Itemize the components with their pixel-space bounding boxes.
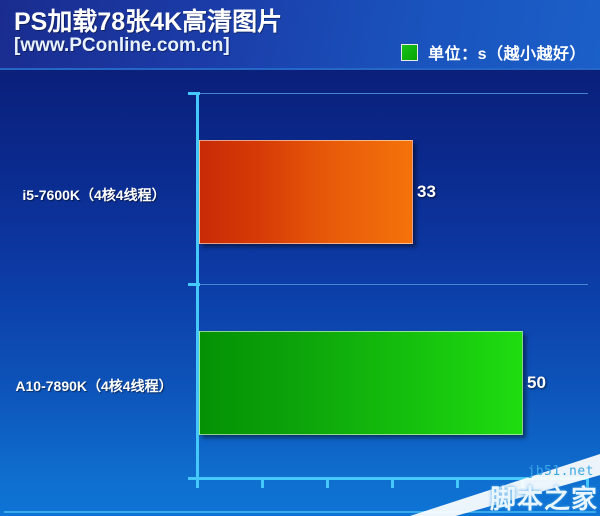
x-axis-tick: [261, 477, 264, 488]
page-title: PS加载78张4K高清图片: [14, 2, 282, 38]
green-square-icon: [401, 44, 418, 61]
chart-header: PS加载78张4K高清图片 [www.PConline.com.cn] 单位：s…: [0, 0, 600, 68]
page-subtitle-url: [www.PConline.com.cn]: [14, 35, 230, 57]
plot-bottom-divider: [4, 511, 596, 513]
category-label-1: A10-7890K（4核4线程）: [0, 376, 188, 396]
x-axis-line: [190, 477, 588, 480]
gridline: [199, 93, 588, 94]
x-axis-tick: [456, 477, 459, 488]
value-label-1: 50: [527, 373, 546, 393]
watermark: jb51.net 脚本之家: [410, 454, 600, 516]
x-axis-tick: [326, 477, 329, 488]
legend-label: 单位：s（越小越好）: [428, 40, 586, 64]
bar-a10-7890k[interactable]: [199, 331, 523, 435]
watermark-ribbon: [410, 454, 600, 516]
x-axis-tick: [586, 477, 589, 488]
chart-screenshot: PS加载78张4K高清图片 [www.PConline.com.cn] 单位：s…: [0, 0, 600, 516]
y-axis-tick: [188, 283, 200, 286]
gridline: [199, 284, 588, 285]
y-axis-tick: [188, 92, 200, 95]
x-axis-tick: [391, 477, 394, 488]
category-label-0: i5-7600K（4核4线程）: [0, 185, 188, 205]
bar-i5-7600k[interactable]: [199, 140, 413, 244]
x-axis-tick: [196, 477, 199, 488]
x-axis-tick: [521, 477, 524, 488]
chart-plot-region: i5-7600K（4核4线程） A10-7890K（4核4线程） 33 50 j…: [0, 68, 600, 516]
chart-legend: 单位：s（越小越好）: [401, 40, 586, 64]
plot-top-divider: [0, 68, 600, 70]
value-label-0: 33: [417, 182, 436, 202]
